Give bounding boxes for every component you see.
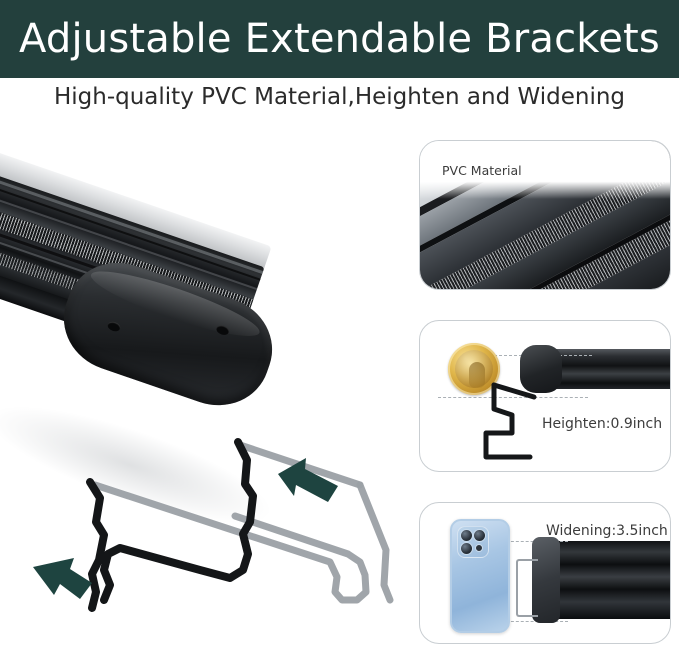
heighten-label: Heighten:0.9inch <box>542 416 662 432</box>
pvc-material-card: PVC Material <box>419 140 671 290</box>
screw-hole-icon <box>106 320 121 333</box>
heighten-card: Heighten:0.9inch <box>419 320 671 472</box>
camera-lens-icon <box>460 542 473 555</box>
header-banner: Adjustable Extendable Brackets <box>0 0 679 78</box>
camera-lens-icon <box>460 529 473 542</box>
pvc-material-label: PVC Material <box>442 163 522 178</box>
extend-outward-arrow <box>30 555 98 611</box>
page-subtitle: High-quality PVC Material,Heighten and W… <box>0 84 679 110</box>
widening-card: Widening:3.5inch <box>419 502 671 644</box>
extend-inward-arrow <box>272 452 344 508</box>
hero-stage <box>0 130 410 648</box>
smartphone-scale-icon <box>450 519 510 633</box>
rail-clip <box>516 559 538 617</box>
hero-product-image <box>0 130 410 648</box>
camera-lens-icon <box>473 529 486 542</box>
camera-module-icon <box>457 526 489 558</box>
widening-label: Widening:3.5inch <box>546 523 668 539</box>
rail-body <box>550 541 671 619</box>
camera-flash-icon <box>475 544 483 552</box>
page-title: Adjustable Extendable Brackets <box>0 0 679 78</box>
product-shadow <box>0 383 283 547</box>
